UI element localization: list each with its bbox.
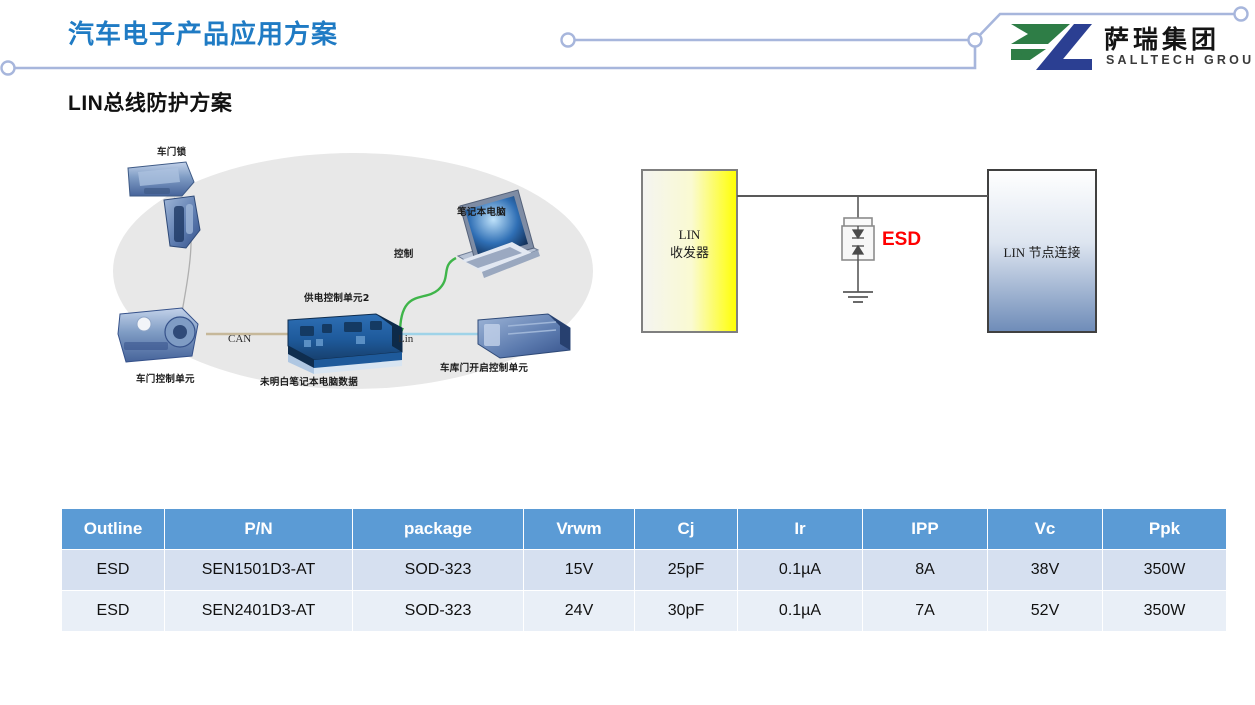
col-vrwm: Vrwm [524,509,635,550]
esd-label: ESD [882,229,921,251]
cell-pn: SEN1501D3-AT [165,550,353,591]
garage-door-unit-graphic [478,314,570,358]
logo-chinese-name: 萨瑞集团 [1104,20,1220,56]
table-row: ESD SEN2401D3-AT SOD-323 24V 30pF 0.1µA … [62,591,1227,632]
ground-symbol [843,292,873,302]
label-garage-door-unit: 车库门开启控制单元 [440,360,528,374]
cell-cj: 30pF [635,591,738,632]
label-can-bus: CAN [228,333,251,345]
cell-ir: 0.1µA [738,550,863,591]
cell-ppk: 350W [1103,550,1227,591]
slide-root: 汽车电子产品应用方案 LIN总线防护方案 萨瑞集团 SALLTECH GROUP [0,0,1255,705]
logo-english-name: SALLTECH GROUP [1106,53,1255,67]
cell-ir: 0.1µA [738,591,863,632]
label-unknown-laptop-data: 未明白笔记本电脑数据 [260,374,358,388]
lin-transceiver-label: LIN 收发器 [642,226,737,261]
trace-node-left [2,62,15,75]
trace-node-junction [969,34,982,47]
power-control-unit-graphic [288,314,402,374]
lin-node-label: LIN 节点连接 [988,244,1096,262]
cell-package: SOD-323 [353,591,524,632]
col-ir: Ir [738,509,863,550]
cell-vc: 38V [988,550,1103,591]
col-ipp: IPP [863,509,988,550]
label-door-ctrl-unit: 车门控制单元 [136,371,195,385]
label-control: 控制 [394,246,414,260]
cell-pn: SEN2401D3-AT [165,591,353,632]
col-package: package [353,509,524,550]
page-title: 汽车电子产品应用方案 [68,14,338,51]
cell-ppk: 350W [1103,591,1227,632]
salltech-sz-mark-icon [1008,22,1094,72]
col-cj: Cj [635,509,738,550]
cell-cj: 25pF [635,550,738,591]
cell-ipp: 8A [863,550,988,591]
brand-logo: 萨瑞集团 SALLTECH GROUP [1008,20,1248,76]
col-ppk: Ppk [1103,509,1227,550]
label-lin-bus: Lin [398,333,413,345]
col-pn: P/N [165,509,353,550]
lin-esd-circuit-diagram: LIN 收发器 LIN 节点连接 ESD [620,150,1120,370]
cell-vrwm: 24V [524,591,635,632]
lin-transceiver-label-line1: LIN [679,227,701,242]
cell-vrwm: 15V [524,550,635,591]
trace-node-mid [562,34,575,47]
door-lock-graphic [128,162,194,196]
cell-package: SOD-323 [353,550,524,591]
cell-outline: ESD [62,550,165,591]
col-vc: Vc [988,509,1103,550]
cell-vc: 52V [988,591,1103,632]
door-control-unit-graphic [118,308,198,362]
page-subtitle: LIN总线防护方案 [68,87,232,117]
table-row: ESD SEN1501D3-AT SOD-323 15V 25pF 0.1µA … [62,550,1227,591]
label-power-ctrl-unit2: 供电控制单元2 [304,290,370,304]
cell-ipp: 7A [863,591,988,632]
lin-network-illustration: 车门锁 车门控制单元 供电控制单元2 未明白笔记本电脑数据 笔记本电脑 控制 车… [108,138,598,403]
esd-parameter-table: Outline P/N package Vrwm Cj Ir IPP Vc Pp… [61,508,1227,632]
table-header-row: Outline P/N package Vrwm Cj Ir IPP Vc Pp… [62,509,1227,550]
cell-outline: ESD [62,591,165,632]
label-laptop: 笔记本电脑 [457,204,506,218]
lin-transceiver-label-line2: 收发器 [670,245,709,260]
label-door-lock: 车门锁 [157,144,186,158]
trace-node-right [1235,8,1248,21]
col-outline: Outline [62,509,165,550]
